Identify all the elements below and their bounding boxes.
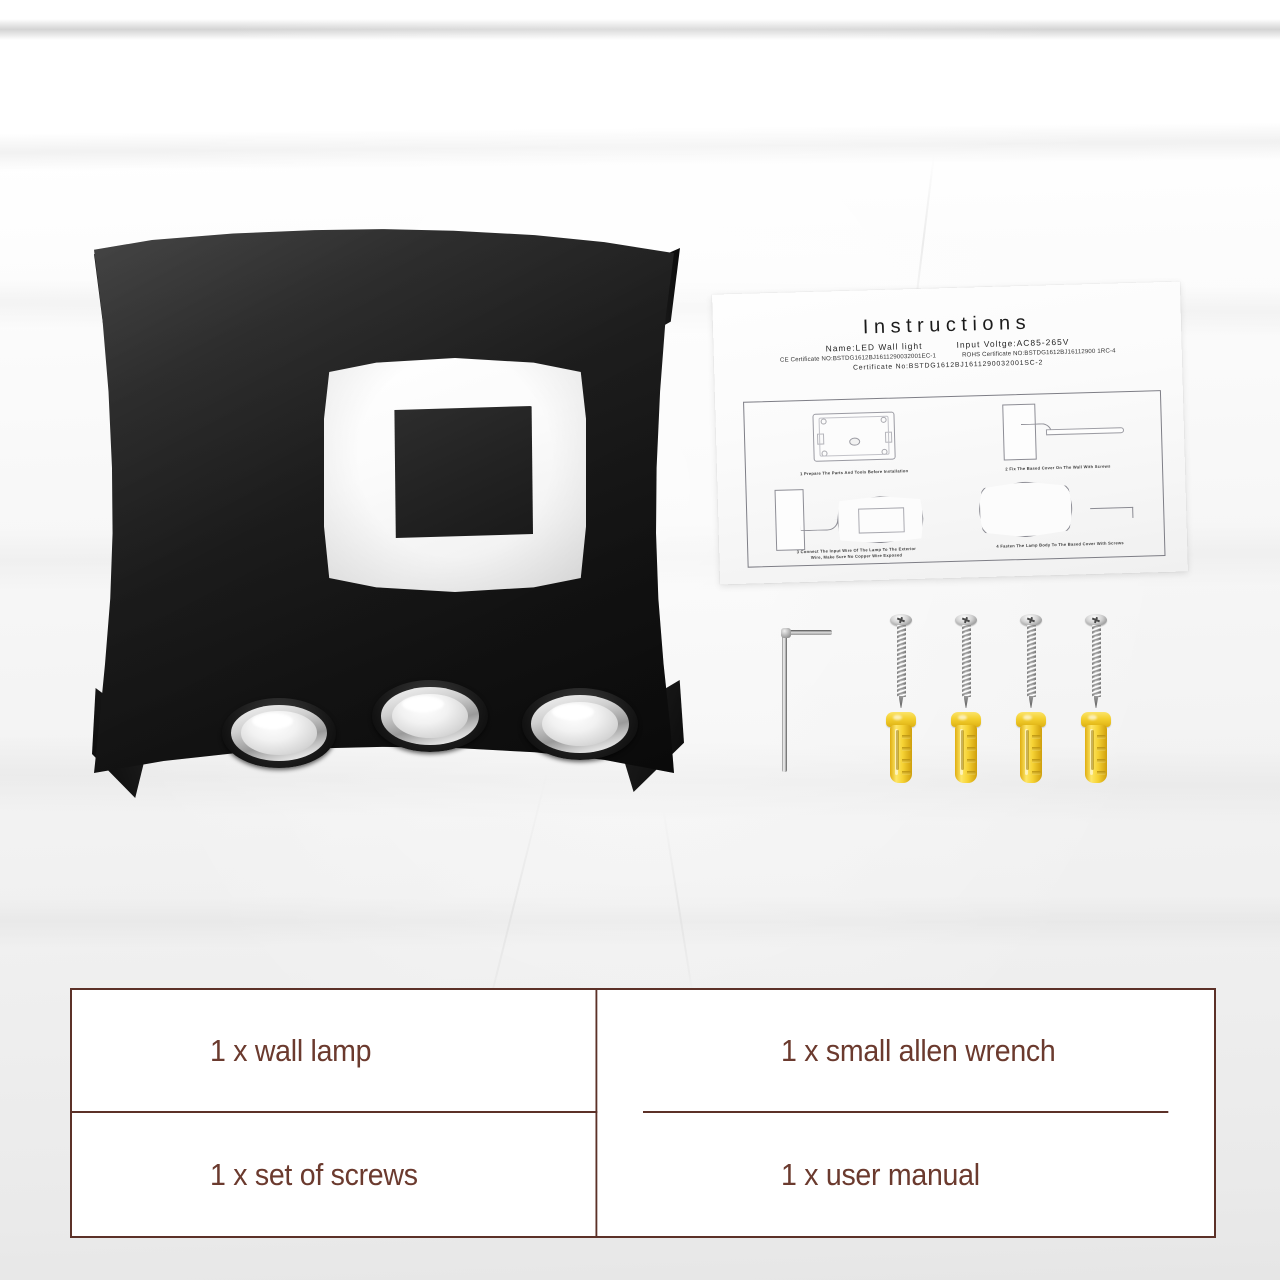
screw-tip xyxy=(964,696,969,708)
led-highlight xyxy=(252,713,293,728)
plug-rib xyxy=(902,735,911,739)
allen-wrench xyxy=(766,622,832,772)
allen-wrench-icon xyxy=(1090,507,1133,519)
plug-rib xyxy=(902,771,911,775)
plug-slot xyxy=(961,730,964,770)
lamp-center-square xyxy=(393,406,533,538)
wrench-short-arm xyxy=(784,630,832,635)
mounting-hole-icon xyxy=(822,450,828,456)
screw xyxy=(953,614,979,710)
mounting-hole-icon xyxy=(881,448,887,454)
plug-rib xyxy=(967,771,976,775)
install-step-1-caption: 1 Prepare The Parts And Tools Before Ins… xyxy=(800,468,908,477)
install-step-2: 2 Fix The Based Cover On The Wall With S… xyxy=(960,398,1153,477)
plug-rib xyxy=(1032,759,1041,763)
led-highlight xyxy=(402,696,444,712)
install-step-2-caption: 2 Fix The Based Cover On The Wall With S… xyxy=(1005,464,1110,473)
rohs-certificate-label: ROHS Certificate NO:BSTDG1612BJ16112900 … xyxy=(962,347,1116,358)
plug-rib xyxy=(1032,771,1041,775)
plug-rib xyxy=(967,759,976,763)
plug-body xyxy=(1020,725,1042,783)
screw-tip xyxy=(1094,696,1099,708)
wrench-elbow xyxy=(781,628,791,638)
plug-body xyxy=(890,725,912,783)
table-cell-screws: 1 x set of screws xyxy=(72,1113,597,1236)
wall-plug xyxy=(886,712,916,788)
led-lens xyxy=(522,688,638,760)
screw xyxy=(1083,614,1109,710)
table-cell-allen-wrench: 1 x small allen wrench xyxy=(643,990,1168,1113)
screw-cross-slot-icon xyxy=(897,617,905,623)
plug-body xyxy=(1085,725,1107,783)
plug-rib xyxy=(1097,747,1106,751)
plug-slot xyxy=(1091,730,1094,770)
plug-rib xyxy=(1097,759,1106,763)
cable-entry-icon xyxy=(849,437,860,445)
installation-diagram: 1 Prepare The Parts And Tools Before Ins… xyxy=(743,390,1165,568)
wall-plug xyxy=(951,712,981,788)
led-lens xyxy=(222,698,336,768)
package-contents-table: 1 x wall lamp 1 x small allen wrench 1 x… xyxy=(70,988,1216,1238)
screw-cross-slot-icon xyxy=(1092,617,1100,623)
wire-drawing xyxy=(801,519,839,531)
plug-rib xyxy=(967,747,976,751)
product-name-label: Name:LED Wall light xyxy=(826,341,923,354)
lamp-diffuser-ring xyxy=(324,358,586,592)
base-cover-drawing xyxy=(813,411,896,461)
wall-plug xyxy=(1081,712,1111,788)
screw-cross-slot-icon xyxy=(1027,617,1035,623)
plug-rib xyxy=(1097,735,1106,739)
plug-rib xyxy=(1032,747,1041,751)
input-voltage-label: Input Voltge:AC85-265V xyxy=(956,337,1069,350)
instruction-sheet: Instructions Name:LED Wall light Input V… xyxy=(712,282,1188,585)
wrench-long-arm xyxy=(782,630,787,772)
plug-rib xyxy=(1097,771,1106,775)
install-step-4: 4 Fasten The Lamp Body To The Based Cove… xyxy=(963,472,1156,556)
screw xyxy=(888,614,914,710)
wall-plug xyxy=(1016,712,1046,788)
plug-slot xyxy=(896,730,899,770)
install-step-1: 1 Prepare The Parts And Tools Before Ins… xyxy=(769,406,937,483)
plug-rib xyxy=(902,759,911,763)
led-lens xyxy=(372,680,488,752)
lamp-body-outline-drawing xyxy=(978,480,1073,538)
table-cell-user-manual: 1 x user manual xyxy=(643,1113,1168,1236)
plug-rib xyxy=(967,735,976,739)
table-cell-wall-lamp: 1 x wall lamp xyxy=(72,990,597,1113)
install-step-3-caption: 3 Connect The Input Wire Of The Lamp To … xyxy=(797,546,917,561)
plug-slot xyxy=(1026,730,1029,770)
plate-tab-icon xyxy=(817,433,824,444)
wall-lamp-product xyxy=(72,218,692,818)
hardware-group xyxy=(748,600,1168,810)
screwdriver-icon xyxy=(1045,427,1124,435)
screw-tip xyxy=(1029,696,1034,708)
screw-thread xyxy=(1027,625,1036,697)
plug-body xyxy=(955,725,977,783)
install-step-4-caption: 4 Fasten The Lamp Body To The Based Cove… xyxy=(996,541,1124,550)
led-highlight xyxy=(552,704,594,720)
screw-cross-slot-icon xyxy=(962,617,970,623)
plug-rib xyxy=(1032,735,1041,739)
plug-rib xyxy=(902,747,911,751)
plate-tab-icon xyxy=(885,432,892,443)
product-image-canvas: Instructions Name:LED Wall light Input V… xyxy=(0,0,1280,1280)
lamp-body-drawing xyxy=(837,495,924,544)
screw-tip xyxy=(899,696,904,708)
screw-thread xyxy=(897,625,906,697)
screw-thread xyxy=(1092,625,1101,697)
screw-thread xyxy=(962,625,971,697)
install-step-3: 3 Connect The Input Wire Of The Lamp To … xyxy=(763,479,948,561)
mounting-hole-icon xyxy=(880,416,886,422)
mounting-hole-icon xyxy=(821,418,827,424)
screw xyxy=(1018,614,1044,710)
